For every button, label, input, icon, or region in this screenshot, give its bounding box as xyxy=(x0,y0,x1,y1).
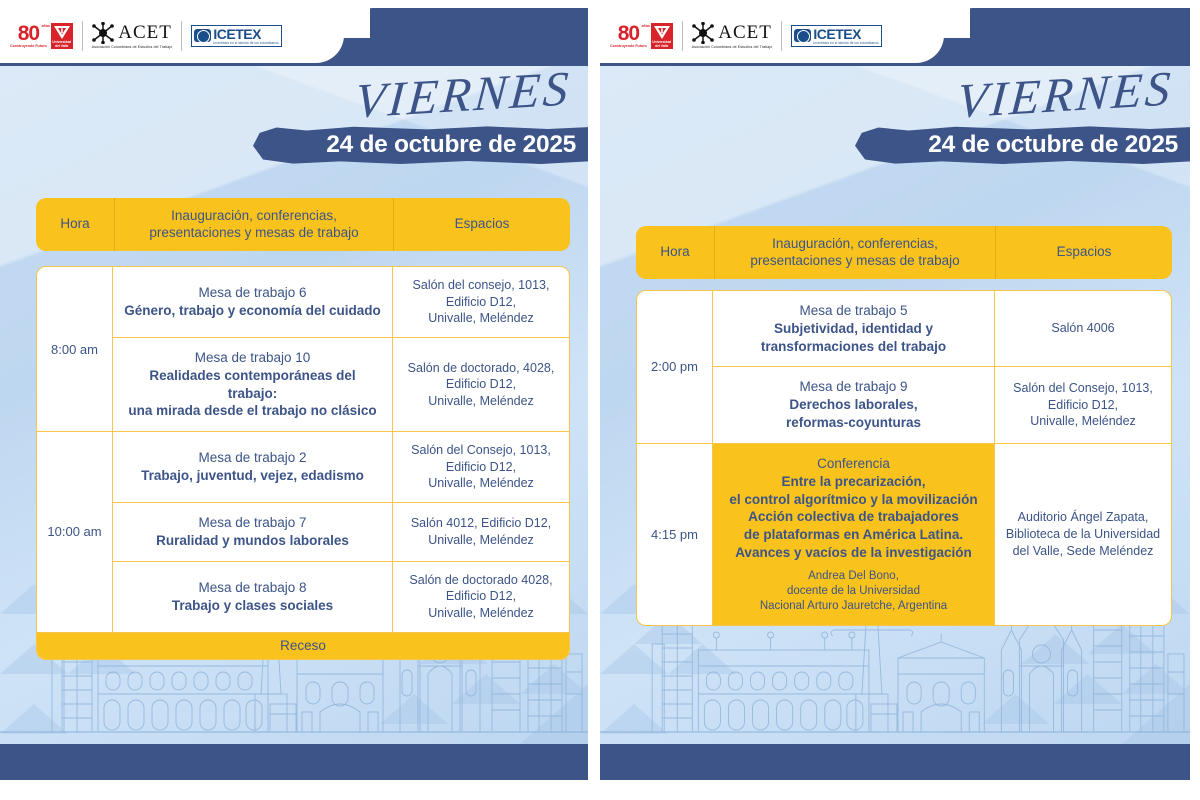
univalle-caption: Construyendo Futuro xyxy=(610,45,647,49)
schedule-header: Hora Inauguración, conferencias, present… xyxy=(636,226,1172,279)
session-space-cell: Salón del consejo, 1013, Edificio D12, U… xyxy=(393,267,569,337)
acet-asterisk-node-icon xyxy=(92,22,114,44)
univalle-80-number: 80 xyxy=(618,22,639,45)
schedule-table-right: 2:00 pm Mesa de trabajo 5 Subjetividad, … xyxy=(636,290,1172,626)
space-line: Salón del consejo, 1013, xyxy=(413,277,550,294)
session-space-cell: Salón de doctorado, 4028, Edificio D12, … xyxy=(393,338,569,431)
session-space-cell: Salón 4012, Edificio D12, Univalle, Melé… xyxy=(393,503,569,561)
date-banner: 24 de octubre de 2025 xyxy=(253,126,588,164)
logo-icetex: ICETEX Invertimos en el talento de los c… xyxy=(191,25,281,47)
column-header-activities: Inauguración, conferencias, presentacion… xyxy=(114,198,394,251)
space-line: Univalle, Meléndez xyxy=(408,393,555,410)
icetex-globe-icon xyxy=(794,29,811,42)
bottom-navy-bar xyxy=(0,744,588,780)
time-group: 4:15 pm Conferencia Entre la precarizaci… xyxy=(637,444,1171,625)
icetex-tagline: Invertimos en el talento de los colombia… xyxy=(813,41,878,45)
column-header-activities-line2: presentaciones y mesas de trabajo xyxy=(149,225,358,242)
univalle-anos-label: años xyxy=(42,25,50,29)
session-title-cell: Mesa de trabajo 10 Realidades contemporá… xyxy=(113,338,393,431)
session-title-cell: Mesa de trabajo 8 Trabajo y clases socia… xyxy=(113,562,393,632)
receso-row: Receso xyxy=(37,633,569,659)
icetex-globe-icon xyxy=(194,29,211,42)
univalle-caption: Construyendo Futuro xyxy=(10,45,47,49)
session-space-cell: Salón de doctorado 4028, Edificio D12, U… xyxy=(393,562,569,632)
date-text: 24 de octubre de 2025 xyxy=(928,131,1178,159)
logo-plate: 80 años Construyendo Futuro Universidad … xyxy=(0,8,344,63)
session-speaker: Andrea Del Bono, docente de la Universid… xyxy=(723,569,984,614)
space-line: Univalle, Meléndez xyxy=(409,605,552,622)
icetex-name: ICETEX xyxy=(213,27,278,41)
space-line: Salón 4012, Edificio D12, xyxy=(411,515,551,532)
time-label: 2:00 pm xyxy=(637,291,713,443)
poster-left: 80 años Construyendo Futuro Universidad … xyxy=(0,8,588,780)
space-line: Univalle, Meléndez xyxy=(1013,413,1153,430)
session-bold: Realidades contemporáneas del trabajo: xyxy=(123,367,382,403)
space-line: Salón del Consejo, 1013, xyxy=(1013,380,1153,397)
icetex-name: ICETEX xyxy=(813,27,878,41)
column-header-activities: Inauguración, conferencias, presentacion… xyxy=(714,226,996,279)
time-group: 2:00 pm Mesa de trabajo 5 Subjetividad, … xyxy=(637,291,1171,444)
univalle-anos-label: años xyxy=(642,25,650,29)
session-title-cell: Mesa de trabajo 5 Subjetividad, identida… xyxy=(713,291,995,366)
session-lead: Mesa de trabajo 10 xyxy=(123,349,382,367)
column-header-espacios: Espacios xyxy=(394,198,570,251)
univalle-shield-icon: Universidad del Valle xyxy=(651,23,673,49)
session-title-cell-highlighted: Conferencia Entre la precarización, el c… xyxy=(713,444,995,625)
icetex-tagline: Invertimos en el talento de los colombia… xyxy=(213,41,278,45)
logo-univalle: 80 años Construyendo Futuro Universidad … xyxy=(610,13,673,59)
logo-acet: ACET Asociación Colombiana de Estudios d… xyxy=(92,22,173,49)
space-line: Salón de doctorado 4028, xyxy=(409,572,552,589)
time-label: 10:00 am xyxy=(37,432,113,631)
table-row: Conferencia Entre la precarización, el c… xyxy=(713,444,1171,625)
table-row: Mesa de trabajo 8 Trabajo y clases socia… xyxy=(113,562,569,632)
session-bold: Subjetividad, identidad y xyxy=(723,320,984,338)
session-bold: Avances y vacíos de la investigación xyxy=(723,544,984,562)
acet-asterisk-node-icon xyxy=(692,22,714,44)
column-header-hora: Hora xyxy=(36,198,114,251)
session-bold: de plataformas en América Latina. xyxy=(723,526,984,544)
date-banner: 24 de octubre de 2025 xyxy=(855,126,1190,164)
space-line: Edificio D12, xyxy=(1013,397,1153,414)
column-header-activities-line2: presentaciones y mesas de trabajo xyxy=(750,253,959,270)
session-space-cell: Salón 4006 xyxy=(995,291,1171,366)
logo-acet: ACET Asociación Colombiana de Estudios d… xyxy=(692,22,773,49)
acet-subtitle: Asociación Colombiana de Estudios del Tr… xyxy=(92,45,173,49)
acet-acronym: ACET xyxy=(718,22,772,44)
session-bold: Género, trabajo y economía del cuidado xyxy=(123,302,382,320)
univalle-80-number: 80 xyxy=(18,22,39,45)
day-title: VIERNES xyxy=(955,60,1175,130)
univalle-mark-label: Universidad del Valle xyxy=(651,41,673,48)
logo-plate: 80 años Construyendo Futuro Universidad … xyxy=(600,8,944,63)
logo-icetex: ICETEX Invertimos en el talento de los c… xyxy=(791,25,881,47)
session-space-cell: Auditorio Ángel Zapata, Biblioteca de la… xyxy=(995,444,1171,625)
session-bold: Derechos laborales, xyxy=(723,396,984,414)
table-row: Mesa de trabajo 9 Derechos laborales, re… xyxy=(713,367,1171,442)
space-line: Edificio D12, xyxy=(409,588,552,605)
space-line: Biblioteca de la Universidad xyxy=(1006,526,1160,543)
space-line: Auditorio Ángel Zapata, xyxy=(1006,509,1160,526)
space-line: Edificio D12, xyxy=(408,376,555,393)
column-header-activities-line1: Inauguración, conferencias, xyxy=(750,236,959,253)
space-line: del Valle, Sede Meléndez xyxy=(1006,543,1160,560)
session-bold: reformas-coyunturas xyxy=(723,414,984,432)
session-bold: Ruralidad y mundos laborales xyxy=(123,532,382,550)
time-label: 8:00 am xyxy=(37,267,113,431)
session-lead: Mesa de trabajo 6 xyxy=(123,284,382,302)
acet-subtitle: Asociación Colombiana de Estudios del Tr… xyxy=(692,45,773,49)
session-lead: Mesa de trabajo 7 xyxy=(123,514,382,532)
table-row: Mesa de trabajo 7 Ruralidad y mundos lab… xyxy=(113,503,569,562)
schedule-table-left: 8:00 am Mesa de trabajo 6 Género, trabaj… xyxy=(36,266,570,660)
session-title-cell: Mesa de trabajo 7 Ruralidad y mundos lab… xyxy=(113,503,393,561)
column-header-hora: Hora xyxy=(636,226,714,279)
space-line: Univalle, Meléndez xyxy=(413,310,550,327)
session-bold: Trabajo, juventud, vejez, edadismo xyxy=(123,467,382,485)
schedule-header: Hora Inauguración, conferencias, present… xyxy=(36,198,570,251)
date-text: 24 de octubre de 2025 xyxy=(326,131,576,159)
session-lead: Mesa de trabajo 8 xyxy=(123,579,382,597)
time-label: 4:15 pm xyxy=(637,444,713,625)
table-row: Mesa de trabajo 6 Género, trabajo y econ… xyxy=(113,267,569,338)
space-line: Edificio D12, xyxy=(411,459,551,476)
logo-divider-1 xyxy=(682,21,683,51)
logo-divider-2 xyxy=(181,21,182,51)
space-line: Salón de doctorado, 4028, xyxy=(408,360,555,377)
table-row: Mesa de trabajo 10 Realidades contemporá… xyxy=(113,338,569,431)
session-title-cell: Mesa de trabajo 6 Género, trabajo y econ… xyxy=(113,267,393,337)
session-bold: Trabajo y clases sociales xyxy=(123,597,382,615)
session-lead: Mesa de trabajo 5 xyxy=(723,302,984,320)
column-header-activities-line1: Inauguración, conferencias, xyxy=(149,208,358,225)
logo-divider-1 xyxy=(82,21,83,51)
poster-pair-canvas: 80 años Construyendo Futuro Universidad … xyxy=(0,0,1200,800)
column-header-espacios: Espacios xyxy=(996,226,1172,279)
space-line: Univalle, Meléndez xyxy=(411,532,551,549)
session-lead: Conferencia xyxy=(723,455,984,473)
logo-univalle: 80 años Construyendo Futuro Universidad … xyxy=(10,13,73,59)
session-bold: transformaciones del trabajo xyxy=(723,338,984,356)
session-title-cell: Mesa de trabajo 2 Trabajo, juventud, vej… xyxy=(113,432,393,502)
logo-divider-2 xyxy=(781,21,782,51)
session-lead: Mesa de trabajo 2 xyxy=(123,449,382,467)
table-row: Mesa de trabajo 2 Trabajo, juventud, vej… xyxy=(113,432,569,503)
session-bold: una mirada desde el trabajo no clásico xyxy=(123,402,382,420)
session-title-cell: Mesa de trabajo 9 Derechos laborales, re… xyxy=(713,367,995,442)
session-lead: Mesa de trabajo 9 xyxy=(723,378,984,396)
univalle-shield-icon: Universidad del Valle xyxy=(51,23,73,49)
space-line: Edificio D12, xyxy=(413,294,550,311)
session-space-cell: Salón del Consejo, 1013, Edificio D12, U… xyxy=(393,432,569,502)
day-title: VIERNES xyxy=(353,60,573,130)
poster-right: 80 años Construyendo Futuro Universidad … xyxy=(600,8,1190,780)
time-group: 8:00 am Mesa de trabajo 6 Género, trabaj… xyxy=(37,267,569,432)
space-line: Salón 4006 xyxy=(1051,320,1114,337)
session-bold: Acción colectiva de trabajadores xyxy=(723,508,984,526)
bottom-navy-bar xyxy=(600,744,1190,780)
table-row: Mesa de trabajo 5 Subjetividad, identida… xyxy=(713,291,1171,367)
time-group: 10:00 am Mesa de trabajo 2 Trabajo, juve… xyxy=(37,432,569,632)
session-bold: Entre la precarización, xyxy=(723,473,984,491)
session-space-cell: Salón del Consejo, 1013, Edificio D12, U… xyxy=(995,367,1171,442)
session-bold: el control algorítmico y la movilización xyxy=(723,491,984,509)
univalle-mark-label: Universidad del Valle xyxy=(51,41,73,48)
space-line: Salón del Consejo, 1013, xyxy=(411,442,551,459)
space-line: Univalle, Meléndez xyxy=(411,475,551,492)
acet-acronym: ACET xyxy=(118,22,172,44)
